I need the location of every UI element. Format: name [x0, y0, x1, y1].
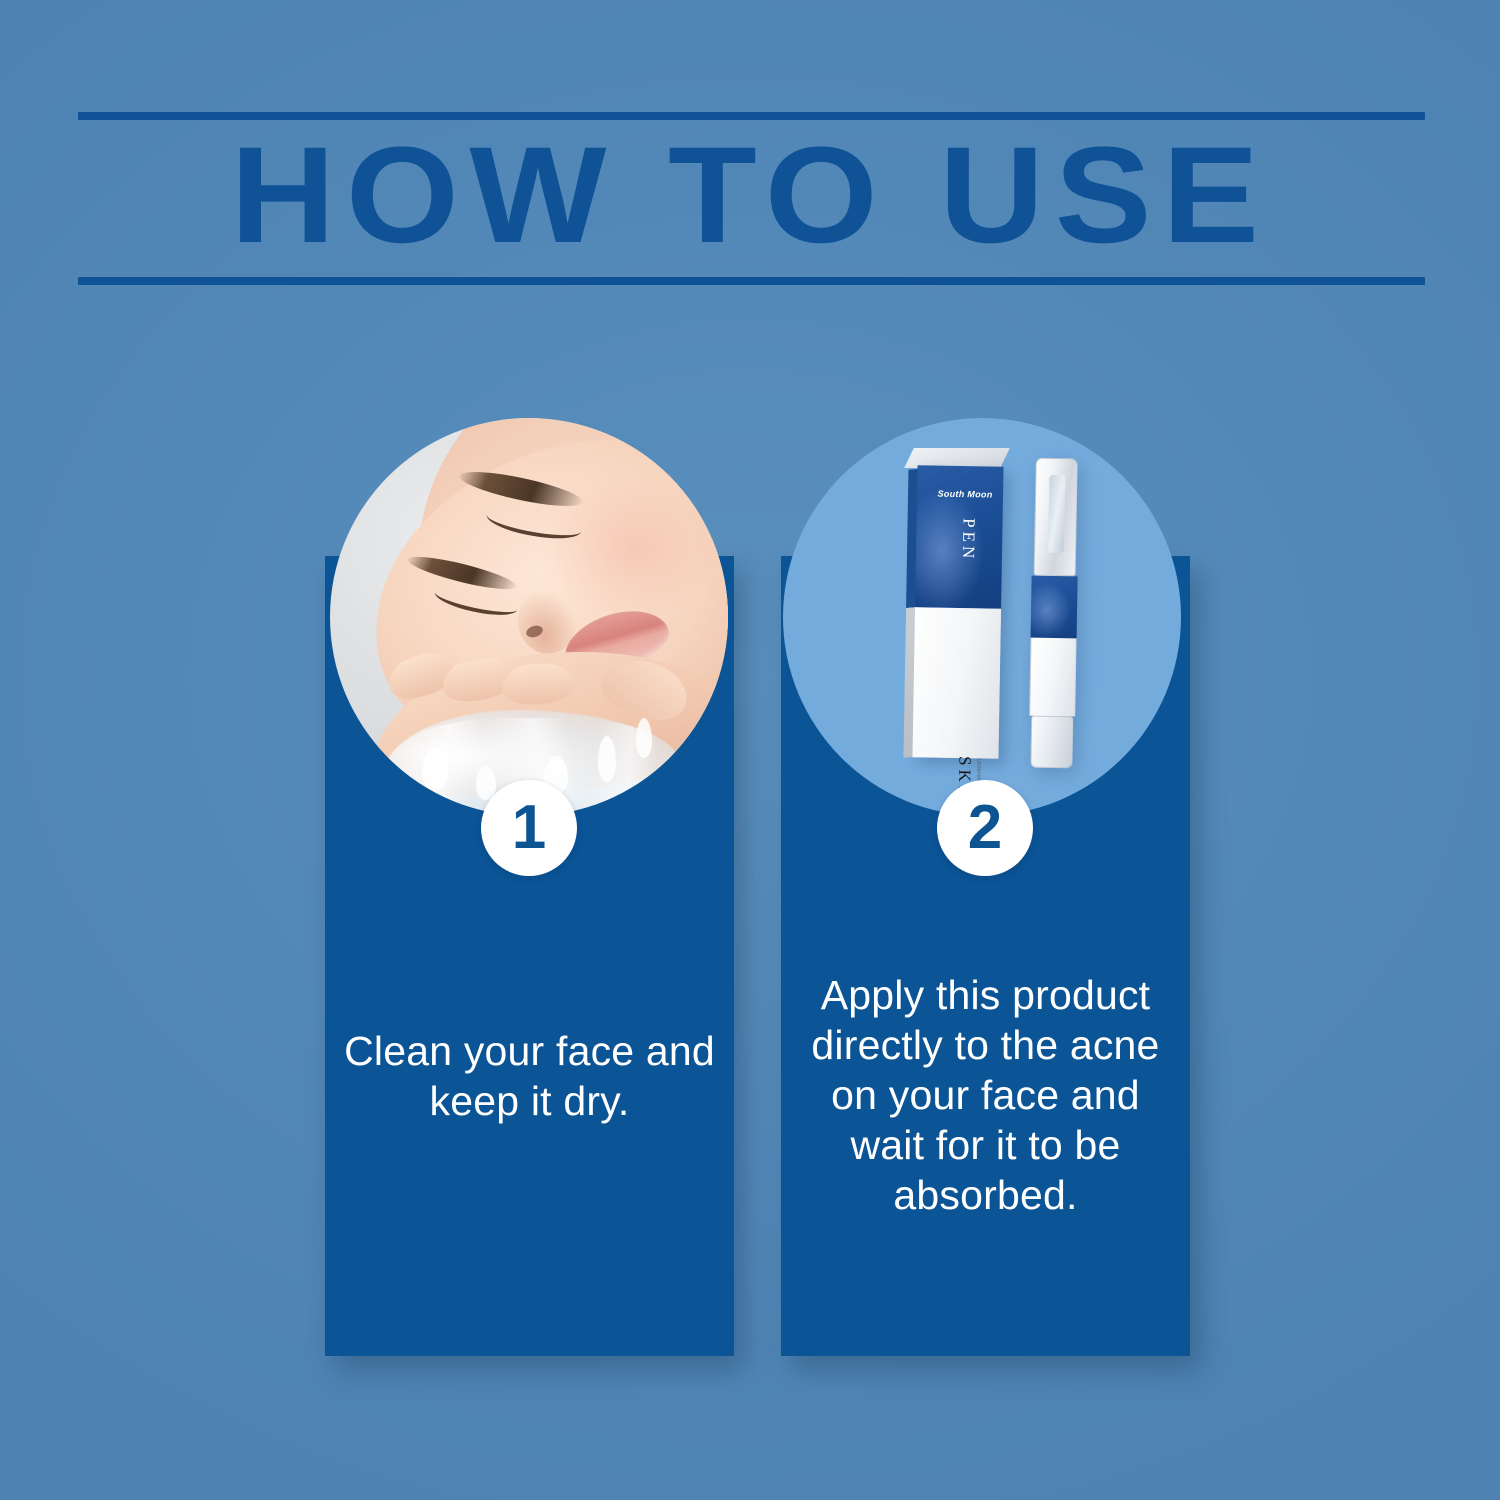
pen-blue-band: PEN	[1031, 576, 1078, 639]
package-white-panel: SKIN CARE Unterstützende kosmetische Pfl…	[912, 607, 1001, 758]
infographic-canvas: HOW TO USE Clean your face and keep it d…	[0, 0, 1500, 1500]
product-pen: PEN SKIN CARE NET:4ML/0.14FL.OZ	[1026, 458, 1081, 769]
water-drop	[636, 718, 652, 758]
water-drop	[598, 736, 616, 782]
page-title: HOW TO USE	[0, 118, 1500, 273]
title-rule-bottom	[78, 277, 1425, 285]
header: HOW TO USE	[0, 0, 1500, 330]
package-blue-panel: South Moon PEN	[915, 465, 1003, 608]
step-1-badge: 1	[481, 780, 577, 876]
face-photo-scene	[330, 418, 728, 816]
pen-applicator	[1048, 475, 1065, 553]
step-1-caption: Clean your face and keep it dry.	[339, 1026, 720, 1126]
pen-body: SKIN CARE NET:4ML/0.14FL.OZ	[1029, 638, 1076, 717]
pen-base	[1030, 716, 1073, 769]
package-title-pen: PEN	[958, 518, 979, 562]
product-photo-scene: South Moon PEN SKIN CARE Unterstützende …	[783, 418, 1181, 816]
product-package: South Moon PEN SKIN CARE Unterstützende …	[912, 465, 1003, 758]
skin-care-pen-product-photo: South Moon PEN SKIN CARE Unterstützende …	[783, 418, 1181, 816]
water-drop	[422, 748, 448, 790]
woman-washing-face-photo	[330, 418, 728, 816]
step-2-badge: 2	[937, 780, 1033, 876]
pen-cap	[1034, 458, 1078, 577]
package-brand-logo: South Moon	[937, 484, 993, 505]
step-2-caption: Apply this product directly to the acne …	[795, 970, 1176, 1220]
